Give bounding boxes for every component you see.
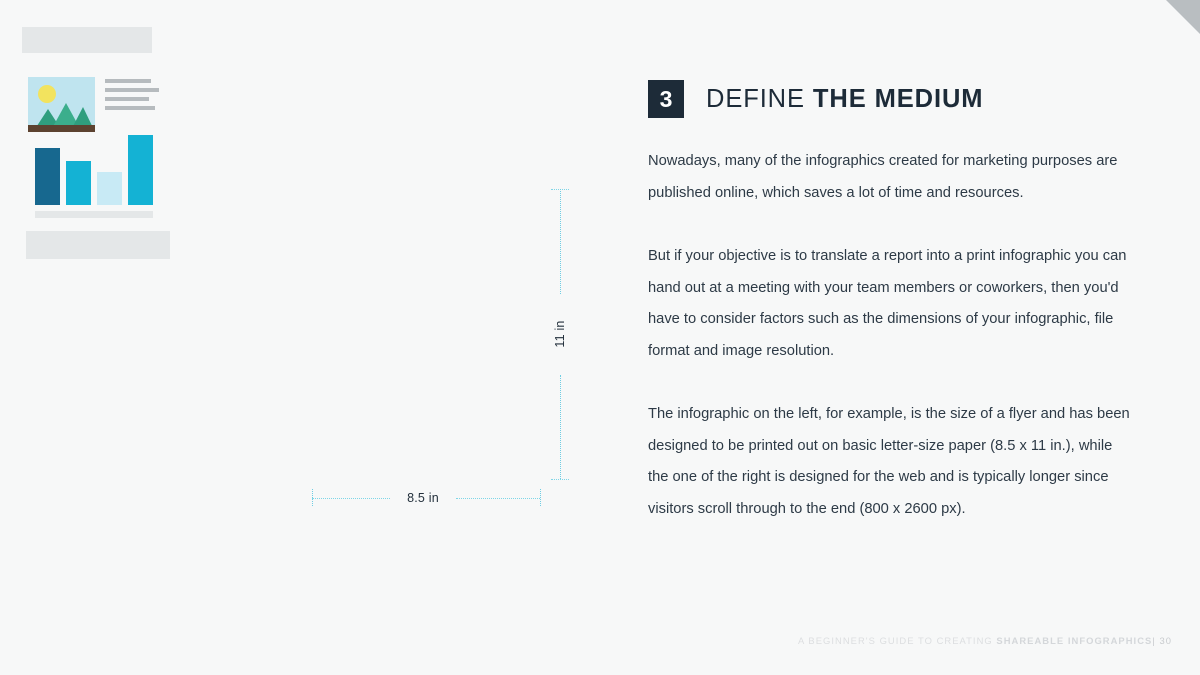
print-width-dimension-line bbox=[456, 498, 540, 499]
mock-text-line bbox=[105, 88, 159, 92]
mock-bar bbox=[128, 135, 153, 205]
mock-bar bbox=[97, 172, 122, 205]
mock-text-line bbox=[105, 79, 151, 83]
body-paragraph: Nowadays, many of the infographics creat… bbox=[648, 146, 1130, 209]
mock-chart-baseline bbox=[35, 211, 153, 218]
print-height-tick-bottom bbox=[551, 479, 569, 480]
mock-text-line bbox=[105, 106, 155, 110]
footer-text-bold: SHAREABLE INFOGRAPHICS bbox=[996, 635, 1152, 646]
mock-photo-landscape bbox=[28, 77, 95, 132]
footer-text-light: A BEGINNER'S GUIDE TO CREATING bbox=[798, 635, 996, 646]
print-height-dimension-line bbox=[560, 375, 561, 479]
section-heading: 3 DEFINE THE MEDIUM bbox=[648, 80, 983, 118]
mock-bar bbox=[35, 148, 60, 205]
mock-banner bbox=[22, 27, 152, 53]
body-paragraph: But if your objective is to translate a … bbox=[648, 241, 1130, 367]
page-number: 30 bbox=[1159, 635, 1172, 646]
mock-text-line bbox=[105, 97, 149, 101]
mock-banner bbox=[26, 231, 170, 259]
print-width-dimension-line bbox=[312, 498, 390, 499]
body-text-column: Nowadays, many of the infographics creat… bbox=[648, 146, 1130, 525]
print-width-label: 8.5 in bbox=[390, 491, 456, 505]
page-title-light: DEFINE bbox=[706, 85, 805, 113]
print-height-dimension-line bbox=[560, 189, 561, 294]
footer: A BEGINNER'S GUIDE TO CREATING SHAREABLE… bbox=[798, 635, 1172, 646]
body-paragraph: The infographic on the left, for example… bbox=[648, 399, 1130, 525]
print-height-label: 11 in bbox=[553, 312, 567, 356]
step-number-badge: 3 bbox=[648, 80, 684, 118]
page-title: DEFINE THE MEDIUM bbox=[706, 85, 983, 114]
mock-bar bbox=[66, 161, 91, 205]
print-width-tick-right bbox=[540, 489, 541, 506]
slide-canvas: 2600 px 800 px bbox=[0, 0, 1200, 675]
print-infographic-mockup bbox=[0, 0, 229, 290]
page-fold-icon bbox=[1166, 0, 1200, 34]
page-title-bold: THE MEDIUM bbox=[813, 85, 984, 113]
